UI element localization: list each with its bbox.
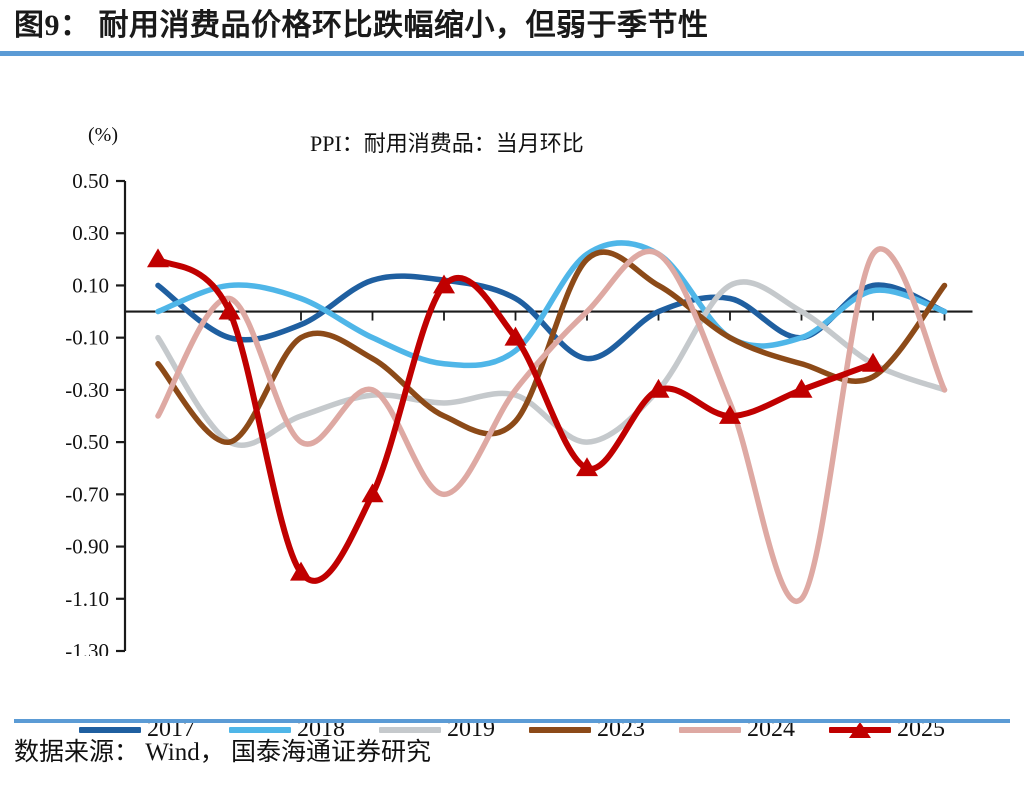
legend-swatch-2023 xyxy=(529,727,591,733)
data-point-marker xyxy=(362,483,384,502)
footer-divider xyxy=(14,719,1010,723)
data-source-note: 数据来源： Wind， 国泰海通证券研究 xyxy=(14,732,431,768)
y-axis-tick-label: -1.10 xyxy=(65,587,109,611)
y-axis-tick-label: -0.10 xyxy=(65,326,109,350)
y-axis-unit-label: (%) xyxy=(88,124,118,147)
plot-title: PPI：耐用消费品：当月环比 xyxy=(310,126,584,158)
y-axis-tick-label: -1.30 xyxy=(65,639,109,656)
legend-swatch-2025 xyxy=(829,727,891,733)
y-axis-tick-label: 0.10 xyxy=(72,273,109,297)
figure-title: 图9： 耐用消费品价格环比跌幅缩小，但弱于季节性 xyxy=(14,4,1010,48)
chart-area: (%) PPI：耐用消费品：当月环比 0.500.300.10-0.10-0.3… xyxy=(0,56,1024,787)
legend-swatch-2024 xyxy=(679,727,741,733)
legend-triangle-marker-icon xyxy=(849,722,871,738)
y-axis-tick-label: -0.30 xyxy=(65,378,109,402)
y-axis-tick-label: -0.50 xyxy=(65,430,109,454)
figure-header: 图9： 耐用消费品价格环比跌幅缩小，但弱于季节性 xyxy=(0,0,1024,48)
y-axis-tick-label: -0.70 xyxy=(65,482,109,506)
y-axis-tick-label: -0.90 xyxy=(65,535,109,559)
figure-panel: 图9： 耐用消费品价格环比跌幅缩小，但弱于季节性 (%) PPI：耐用消费品：当… xyxy=(0,0,1024,787)
y-axis-tick-label: 0.50 xyxy=(72,169,109,193)
y-axis-tick-label: 0.30 xyxy=(72,221,109,245)
data-point-marker xyxy=(147,248,169,267)
